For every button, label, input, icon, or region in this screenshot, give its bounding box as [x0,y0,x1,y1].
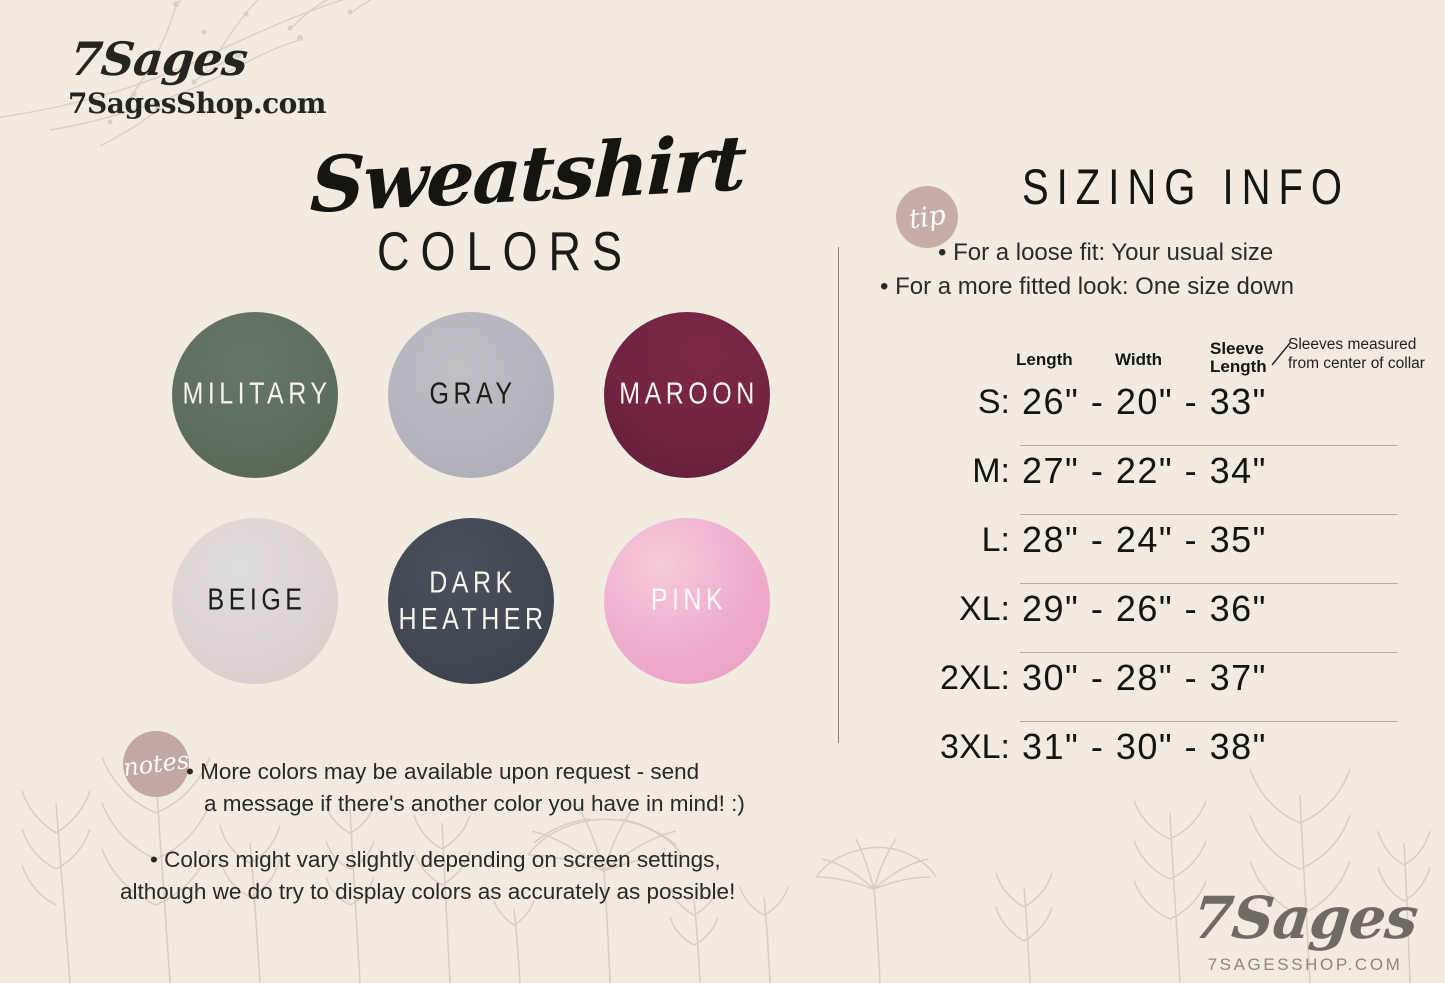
notes-block: • More colors may be available upon requ… [120,756,840,908]
size-label: 3XL: [930,728,1010,767]
note-more-colors-line1: • More colors may be available upon requ… [186,756,840,788]
table-row: M: 27" - 22" - 34" [930,446,1430,515]
column-header-sleeve-length: Sleeve Length [1210,340,1267,377]
size-measurements: 27" - 22" - 34" [1022,450,1267,492]
sleeve-header-line1: Sleeve [1210,340,1267,358]
watermark-logo: 7Sages 7SAGESSHOP.COM [1175,889,1435,975]
size-measurements: 30" - 28" - 37" [1022,657,1267,699]
color-swatch-pink[interactable]: PINK [604,518,770,684]
watermark-script: 7Sages [1172,889,1438,947]
sleeve-header-line2: Length [1210,358,1267,376]
sleeve-measurement-note: Sleeves measured from center of collar [1288,335,1425,374]
note-color-accuracy-line2: although we do try to display colors as … [120,876,840,908]
swatch-row: MILITARY GRAY MAROON [172,312,752,478]
swatch-label: MILITARY [179,377,332,413]
size-label: XL: [930,590,1010,629]
color-swatch-beige[interactable]: BEIGE [172,518,338,684]
note-more-colors-line2: a message if there's another color you h… [204,788,840,820]
brand-domain: 7SagesShop.com [68,90,408,118]
title-subtitle-colors: COLORS [320,220,690,283]
size-measurements: 26" - 20" - 33" [1022,381,1267,423]
size-measurements: 28" - 24" - 35" [1022,519,1267,561]
swatch-label: MAROON [615,377,759,413]
swatch-label: PINK [647,583,727,619]
color-swatch-dark-heather[interactable]: DARKHEATHER [388,518,554,684]
column-header-width: Width [1115,351,1162,369]
table-row: 3XL: 31" - 30" - 38" [930,722,1430,791]
brand-logo-script: 7Sages [68,36,413,82]
sizing-info-title: SIZING INFO [1022,160,1440,216]
tip-badge-label: tip [907,201,947,233]
color-swatch-grid: MILITARY GRAY MAROON BEIGE DARKHEATHER P… [172,312,752,724]
brand-header: 7Sages 7SagesShop.com [68,36,408,118]
swatch-label-line2: HEATHER [398,601,547,635]
color-swatch-military[interactable]: MILITARY [172,312,338,478]
size-measurement-table: Length Width Sleeve Length Sleeves measu… [930,335,1430,791]
size-label: M: [930,452,1010,491]
tip-line-loose-fit: • For a loose fit: Your usual size [938,239,1440,267]
tip-badge: tip [896,186,958,248]
sizing-color-chart-page: 7Sages 7SagesShop.com Sweatshirt COLORS … [0,0,1445,983]
title-script-sweatshirt: Sweatshirt [309,130,691,222]
table-column-headers: Length Width Sleeve Length Sleeves measu… [930,335,1430,377]
size-measurements: 29" - 26" - 36" [1022,588,1267,630]
swatch-label: BEIGE [204,583,307,619]
swatch-label: GRAY [426,377,517,413]
sizing-info-panel: tip SIZING INFO • For a loose fit: Your … [880,160,1440,301]
note-color-accuracy-line1: • Colors might vary slightly depending o… [150,844,840,876]
vertical-divider [838,247,839,743]
sleeve-note-line2: from center of collar [1288,354,1425,373]
column-header-length: Length [1016,351,1073,369]
swatch-row: BEIGE DARKHEATHER PINK [172,518,752,684]
size-label: 2XL: [930,659,1010,698]
color-swatch-maroon[interactable]: MAROON [604,312,770,478]
size-measurements: 31" - 30" - 38" [1022,726,1267,768]
swatch-label-line1: DARK [429,565,516,599]
table-row: L: 28" - 24" - 35" [930,515,1430,584]
swatch-label: DARKHEATHER [394,565,547,637]
color-swatch-gray[interactable]: GRAY [388,312,554,478]
tip-line-fitted-look: • For a more fitted look: One size down [880,273,1440,301]
table-row: 2XL: 30" - 28" - 37" [930,653,1430,722]
size-label: S: [930,383,1010,422]
table-row: S: 26" - 20" - 33" [930,377,1430,446]
table-row: XL: 29" - 26" - 36" [930,584,1430,653]
sleeve-note-line1: Sleeves measured [1288,335,1425,354]
page-title: Sweatshirt COLORS [310,140,690,272]
watermark-domain: 7SAGESSHOP.COM [1175,955,1435,975]
size-label: L: [930,521,1010,560]
